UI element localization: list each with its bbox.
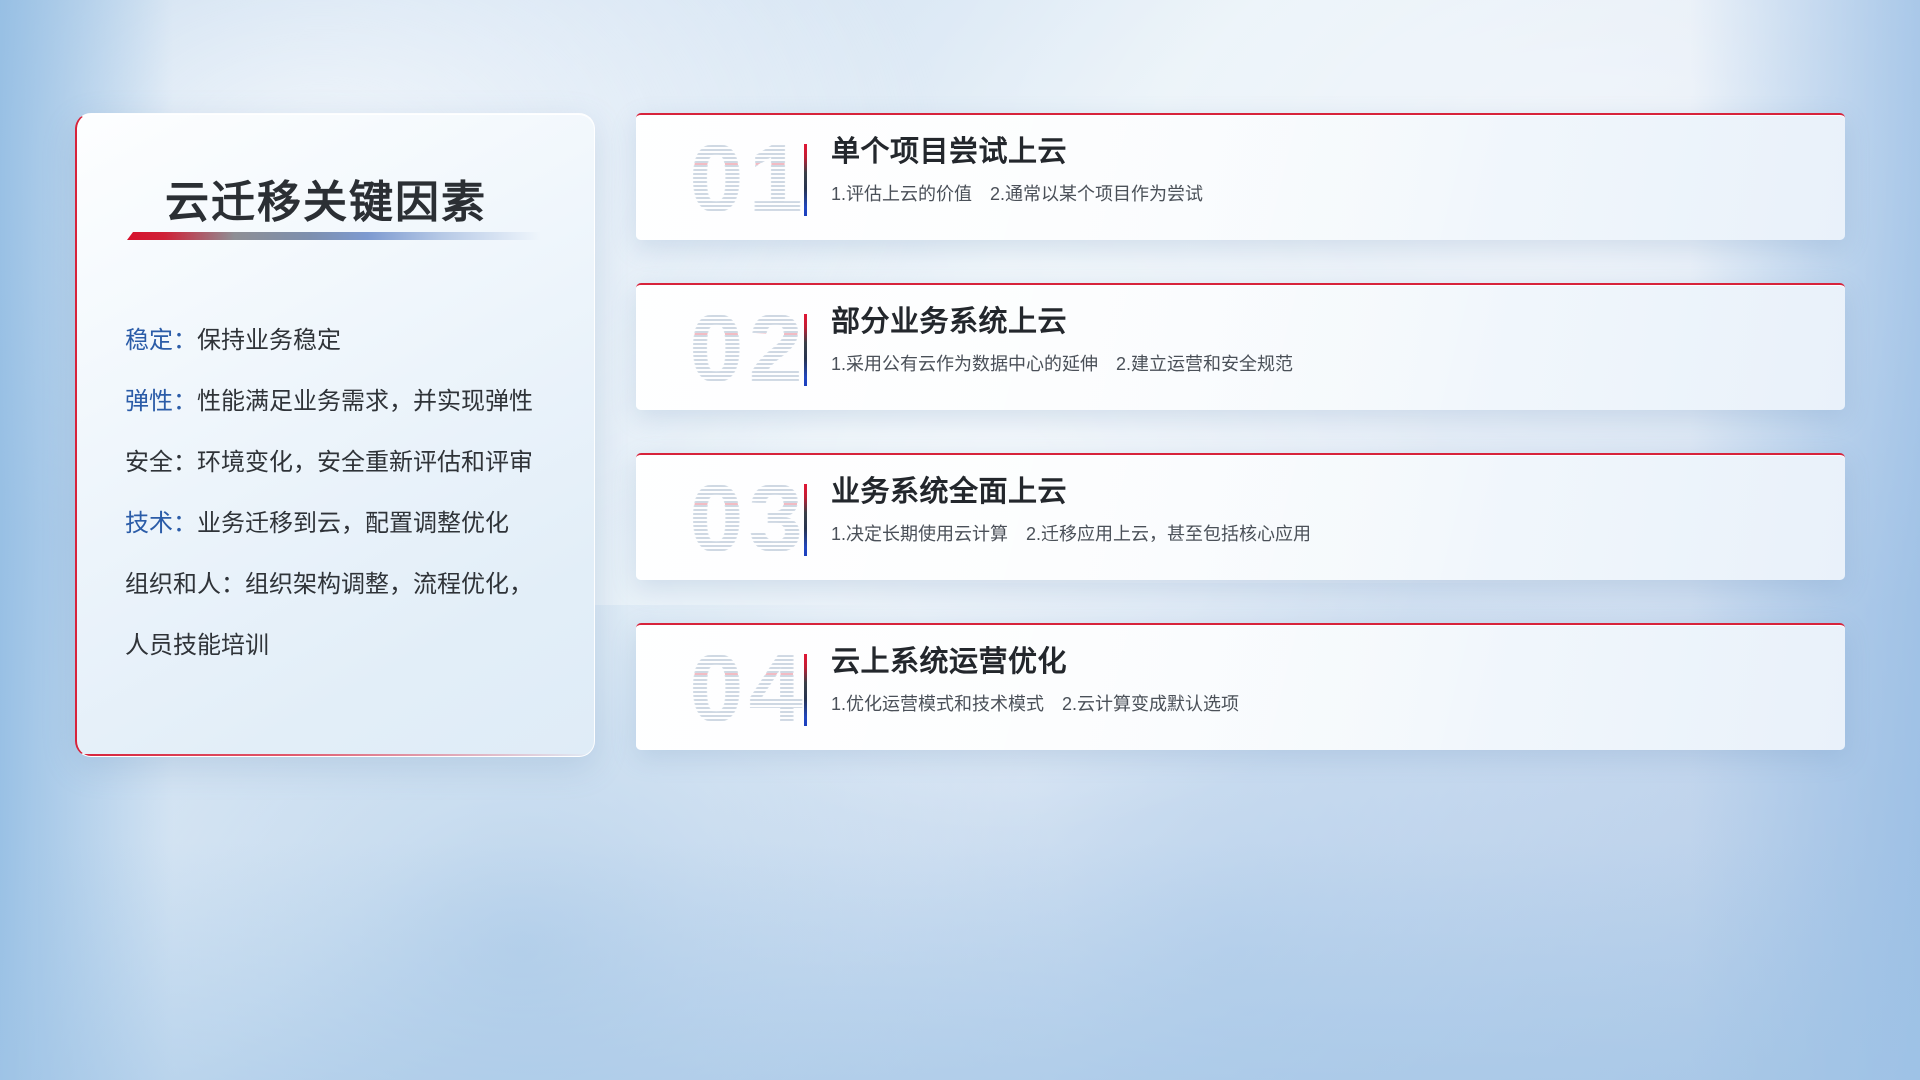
key-factor-line: 组织和人：组织架构调整，流程优化， [125, 554, 566, 615]
key-factors-panel: 云迁移关键因素 稳定：保持业务稳定弹性：性能满足业务需求，并实现弹性安全：环境变… [75, 113, 595, 757]
stage-card[interactable]: 0202部分业务系统上云1.采用公有云作为数据中心的延伸 2.建立运营和安全规范 [636, 283, 1845, 410]
stage-card-body: 业务系统全面上云1.决定长期使用云计算 2.迁移应用上云，甚至包括核心应用 [831, 472, 1821, 547]
key-factor-text: 保持业务稳定 [197, 327, 341, 354]
stage-card[interactable]: 0101单个项目尝试上云1.评估上云的价值 2.通常以某个项目作为尝试 [636, 113, 1845, 240]
stage-subtitle: 1.优化运营模式和技术模式 2.云计算变成默认选项 [831, 691, 1821, 717]
stage-card-body: 单个项目尝试上云1.评估上云的价值 2.通常以某个项目作为尝试 [831, 132, 1821, 207]
key-factor-text: 业务迁移到云，配置调整优化 [197, 510, 509, 537]
stage-divider-bar [804, 144, 807, 216]
key-factor-label: 弹性： [125, 388, 197, 415]
key-factor-label: 技术： [125, 510, 197, 537]
stage-divider-bar [804, 314, 807, 386]
stage-title: 单个项目尝试上云 [831, 132, 1821, 172]
key-factor-line: 人员技能培训 [125, 615, 566, 676]
key-factors-list: 稳定：保持业务稳定弹性：性能满足业务需求，并实现弹性安全：环境变化，安全重新评估… [125, 310, 566, 676]
stage-number-glitch-accent: 04 [658, 627, 840, 750]
title-underline-accent [127, 232, 541, 240]
stage-subtitle: 1.决定长期使用云计算 2.迁移应用上云，甚至包括核心应用 [831, 521, 1821, 547]
key-factor-label: 稳定： [125, 327, 197, 354]
stage-card-list: 0101单个项目尝试上云1.评估上云的价值 2.通常以某个项目作为尝试0202部… [636, 113, 1845, 750]
key-factor-line: 安全：环境变化，安全重新评估和评审 [125, 432, 566, 493]
stage-divider-bar [804, 654, 807, 726]
key-factor-text: 性能满足业务需求，并实现弹性 [197, 388, 533, 415]
key-factor-label: 组织和人： [125, 571, 245, 598]
stage-title: 部分业务系统上云 [831, 302, 1821, 342]
stage-card-body: 部分业务系统上云1.采用公有云作为数据中心的延伸 2.建立运营和安全规范 [831, 302, 1821, 377]
key-factor-text: 环境变化，安全重新评估和评审 [197, 449, 533, 476]
key-factor-text: 组织架构调整，流程优化， [245, 571, 533, 598]
key-factor-line: 稳定：保持业务稳定 [125, 310, 566, 371]
stage-card[interactable]: 0404云上系统运营优化1.优化运营模式和技术模式 2.云计算变成默认选项 [636, 623, 1845, 750]
background-tint-bottom [0, 842, 1920, 1080]
stage-card-body: 云上系统运营优化1.优化运营模式和技术模式 2.云计算变成默认选项 [831, 642, 1821, 717]
key-factor-line: 弹性：性能满足业务需求，并实现弹性 [125, 371, 566, 432]
key-factor-line: 技术：业务迁移到云，配置调整优化 [125, 493, 566, 554]
stage-card[interactable]: 0303业务系统全面上云1.决定长期使用云计算 2.迁移应用上云，甚至包括核心应… [636, 453, 1845, 580]
stage-title: 云上系统运营优化 [831, 642, 1821, 682]
stage-subtitle: 1.采用公有云作为数据中心的延伸 2.建立运营和安全规范 [831, 351, 1821, 377]
key-factor-label: 安全： [125, 449, 197, 476]
page-title: 云迁移关键因素 [165, 166, 487, 230]
stage-divider-bar [804, 484, 807, 556]
stage-title: 业务系统全面上云 [831, 472, 1821, 512]
stage-number-glitch-accent: 02 [658, 287, 840, 410]
key-factor-text: 人员技能培训 [125, 632, 269, 659]
stage-number-glitch-accent: 01 [658, 117, 840, 240]
stage-number-glitch-accent: 03 [658, 457, 840, 580]
stage-subtitle: 1.评估上云的价值 2.通常以某个项目作为尝试 [831, 181, 1821, 207]
